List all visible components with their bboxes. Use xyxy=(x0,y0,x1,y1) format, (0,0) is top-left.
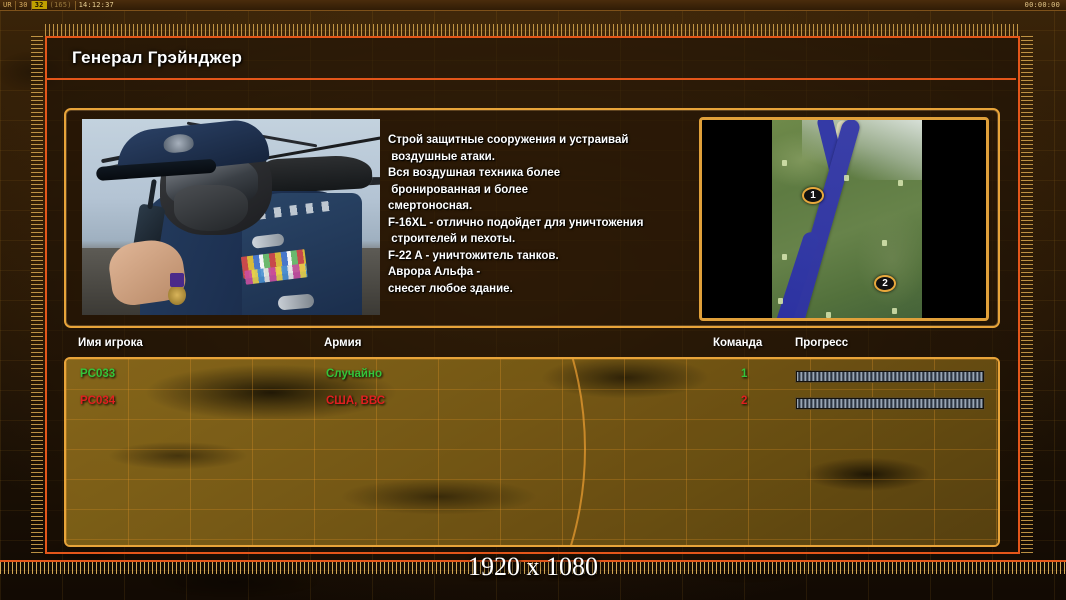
portrait-oxygen-mask xyxy=(174,185,248,231)
map-prop-icon xyxy=(844,175,849,181)
general-info-panel: Строй защитные сооружения и устраивай во… xyxy=(64,108,1000,328)
map-prop-icon xyxy=(826,312,831,318)
general-portrait xyxy=(82,119,380,315)
topbar-value-2: 32 xyxy=(32,1,47,9)
column-header-army: Армия xyxy=(324,337,361,349)
map-preview: 1 2 xyxy=(699,117,989,321)
map-prop-icon xyxy=(778,298,783,304)
column-header-progress: Прогресс xyxy=(795,337,848,349)
topbar-label: UR xyxy=(0,1,15,9)
game-lobby-screen: UR 30 32 (165) 14:12:37 00:00:00 Генерал… xyxy=(0,0,1066,600)
player-army[interactable]: Случайно xyxy=(326,368,382,380)
map-prop-icon xyxy=(782,254,787,260)
topbar-value-1: 30 xyxy=(16,1,31,9)
player-name: PC034 xyxy=(80,395,115,407)
player-name: PC033 xyxy=(80,368,115,380)
ruler-top xyxy=(45,24,1020,36)
general-description: Строй защитные сооружения и устраивай во… xyxy=(388,132,708,297)
ruler-left xyxy=(31,36,43,554)
column-header-name: Имя игрока xyxy=(78,337,143,349)
player-progress-fill xyxy=(797,372,983,381)
column-header-team: Команда xyxy=(713,337,762,349)
map-prop-icon xyxy=(898,180,903,186)
table-row[interactable]: PC034 США, ВВС 2 xyxy=(66,395,1000,421)
map-prop-icon xyxy=(782,160,787,166)
title-bar: Генерал Грэйнджер xyxy=(45,38,1016,80)
players-list-panel: PC033 Случайно 1 PC034 США, ВВС 2 xyxy=(64,357,1000,547)
player-progress-bar xyxy=(795,397,985,410)
ruler-right xyxy=(1021,36,1033,554)
player-team[interactable]: 2 xyxy=(741,395,747,407)
table-row[interactable]: PC033 Случайно 1 xyxy=(66,368,1000,394)
page-title: Генерал Грэйнджер xyxy=(72,48,242,68)
map-start-position-2[interactable]: 2 xyxy=(874,275,896,292)
cap-badge-icon xyxy=(163,133,195,154)
map-prop-icon xyxy=(882,240,887,246)
helicopter-icon xyxy=(259,154,373,194)
portrait-medal xyxy=(168,285,186,305)
topbar-clock: 14:12:37 xyxy=(76,1,117,9)
player-army[interactable]: США, ВВС xyxy=(326,395,385,407)
player-progress-fill xyxy=(797,399,983,408)
player-progress-bar xyxy=(795,370,985,383)
topbar-value-3: (165) xyxy=(47,1,75,9)
player-team[interactable]: 1 xyxy=(741,368,747,380)
topbar-right-clock: 00:00:00 xyxy=(1025,1,1066,9)
map-start-position-1[interactable]: 1 xyxy=(802,187,824,204)
top-status-bar: UR 30 32 (165) 14:12:37 00:00:00 xyxy=(0,0,1066,11)
players-table-header: Имя игрока Армия Команда Прогресс xyxy=(64,337,1000,357)
map-prop-icon xyxy=(892,308,897,314)
resolution-label: 1920 x 1080 xyxy=(0,552,1066,582)
